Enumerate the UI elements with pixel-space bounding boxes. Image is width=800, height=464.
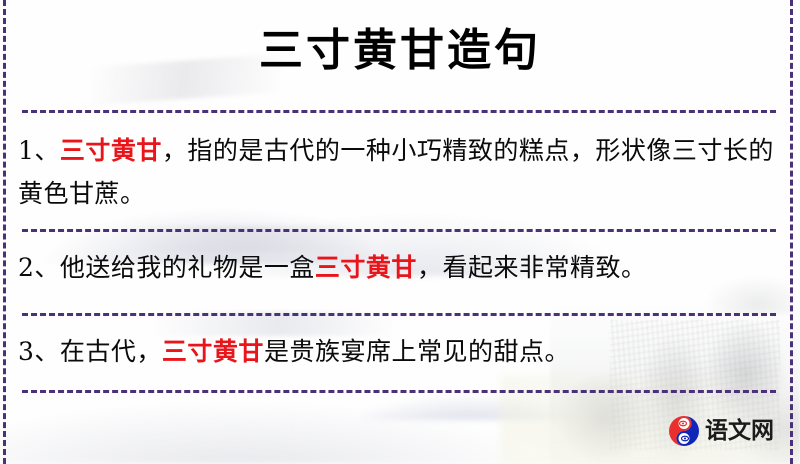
divider-1 bbox=[22, 110, 776, 113]
divider-4 bbox=[22, 390, 776, 393]
sentence-3-index: 3、 bbox=[18, 337, 60, 366]
slide-canvas: 三寸黄甘造句 1、三寸黄甘，指的是古代的一种小巧精致的糕点，形状像三寸长的黄色甘… bbox=[0, 0, 800, 464]
sentence-3-after: 是贵族宴席上常见的甜点。 bbox=[264, 337, 570, 366]
yinyang-circle-logo-icon bbox=[668, 415, 700, 447]
content-area: 三寸黄甘造句 1、三寸黄甘，指的是古代的一种小巧精致的糕点，形状像三寸长的黄色甘… bbox=[0, 0, 800, 464]
sentence-2-before: 他送给我的礼物是一盒 bbox=[60, 253, 315, 282]
sentence-1-keyword: 三寸黄甘 bbox=[60, 136, 162, 165]
sentence-2-index: 2、 bbox=[18, 253, 60, 282]
sentence-item-1: 1、三寸黄甘，指的是古代的一种小巧精致的糕点，形状像三寸长的黄色甘蔗。 bbox=[18, 129, 780, 215]
sentence-1-index: 1、 bbox=[18, 136, 60, 165]
sentence-3-before: 在古代， bbox=[60, 337, 162, 366]
sentence-3-keyword: 三寸黄甘 bbox=[162, 337, 264, 366]
sentence-item-3: 3、在古代，三寸黄甘是贵族宴席上常见的甜点。 bbox=[18, 330, 780, 373]
sentence-item-2: 2、他送给我的礼物是一盒三寸黄甘，看起来非常精致。 bbox=[18, 246, 780, 289]
divider-2 bbox=[22, 229, 776, 232]
page-title: 三寸黄甘造句 bbox=[0, 22, 800, 80]
sentence-2-keyword: 三寸黄甘 bbox=[315, 253, 417, 282]
divider-3 bbox=[22, 313, 776, 316]
site-logo-text: 语文网 bbox=[705, 418, 774, 444]
sentence-2-after: ，看起来非常精致。 bbox=[417, 253, 647, 282]
site-logo[interactable]: 语文网 bbox=[668, 415, 774, 447]
